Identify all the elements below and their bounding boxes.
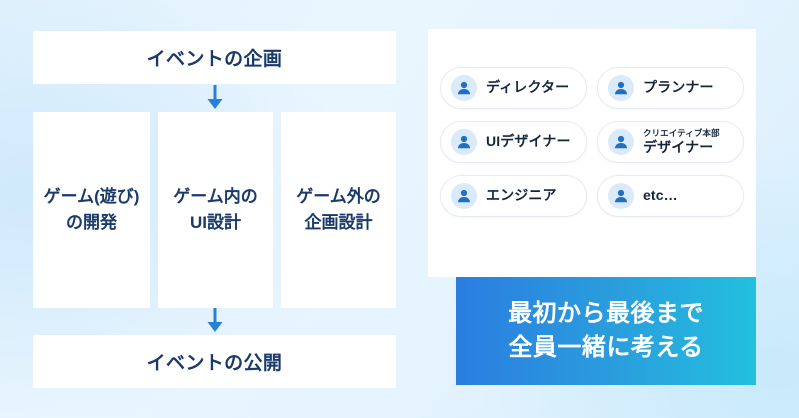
- role-pill-text: クリエイティブ本部 デザイナー: [643, 129, 720, 154]
- arrow-down-icon: [203, 85, 227, 111]
- role-pill-text: UIデザイナー: [486, 134, 571, 149]
- role-department-label: クリエイティブ本部: [643, 129, 720, 138]
- role-label: etc…: [643, 188, 678, 203]
- flow-column-game-development: ゲーム(遊び) の開発: [33, 112, 150, 308]
- role-pill-engineer[interactable]: エンジニア: [440, 175, 587, 217]
- tagline-line-2: 全員一緒に考える: [508, 331, 703, 365]
- person-icon: [451, 129, 477, 155]
- tagline-line-1: 最初から最後まで: [508, 297, 704, 331]
- person-icon: [608, 75, 634, 101]
- flow-step-planning-label: イベントの企画: [147, 44, 283, 71]
- role-pill-ui-designer[interactable]: UIデザイナー: [440, 121, 587, 163]
- role-pill-planner[interactable]: プランナー: [597, 67, 744, 109]
- role-label: UIデザイナー: [486, 134, 571, 149]
- flow-step-release: イベントの公開: [33, 335, 396, 388]
- role-pill-text: エンジニア: [486, 188, 557, 203]
- flow-column-in-game-ui-design: ゲーム内の UI設計: [158, 112, 273, 308]
- role-label: エンジニア: [486, 188, 557, 203]
- tagline-banner: 最初から最後まで 全員一緒に考える: [456, 277, 756, 385]
- role-label: プランナー: [643, 80, 714, 95]
- diagram-canvas: イベントの企画 ゲーム(遊び) の開発 ゲーム内の UI設計 ゲーム外の 企画設…: [0, 0, 799, 418]
- role-pill-director[interactable]: ディレクター: [440, 67, 587, 109]
- person-icon: [608, 183, 634, 209]
- arrow-down-icon: [203, 308, 227, 334]
- roles-grid: ディレクター プランナー: [440, 67, 744, 217]
- role-pill-text: etc…: [643, 188, 678, 203]
- role-pill-etc[interactable]: etc…: [597, 175, 744, 217]
- role-pill-text: プランナー: [643, 80, 714, 95]
- flow-column-3-label: ゲーム外の 企画設計: [296, 184, 381, 237]
- role-label: デザイナー: [643, 140, 720, 155]
- role-pill-creative-designer[interactable]: クリエイティブ本部 デザイナー: [597, 121, 744, 163]
- role-pill-text: ディレクター: [486, 80, 569, 95]
- flow-column-1-label: ゲーム(遊び) の開発: [44, 184, 140, 237]
- role-label: ディレクター: [486, 80, 569, 95]
- person-icon: [451, 75, 477, 101]
- roles-panel: ディレクター プランナー: [428, 29, 756, 277]
- flow-column-out-game-planning: ゲーム外の 企画設計: [281, 112, 396, 308]
- person-icon: [451, 183, 477, 209]
- flow-step-planning: イベントの企画: [33, 31, 396, 84]
- flow-step-release-label: イベントの公開: [147, 348, 283, 375]
- person-icon: [608, 129, 634, 155]
- flow-column-2-label: ゲーム内の UI設計: [173, 184, 258, 237]
